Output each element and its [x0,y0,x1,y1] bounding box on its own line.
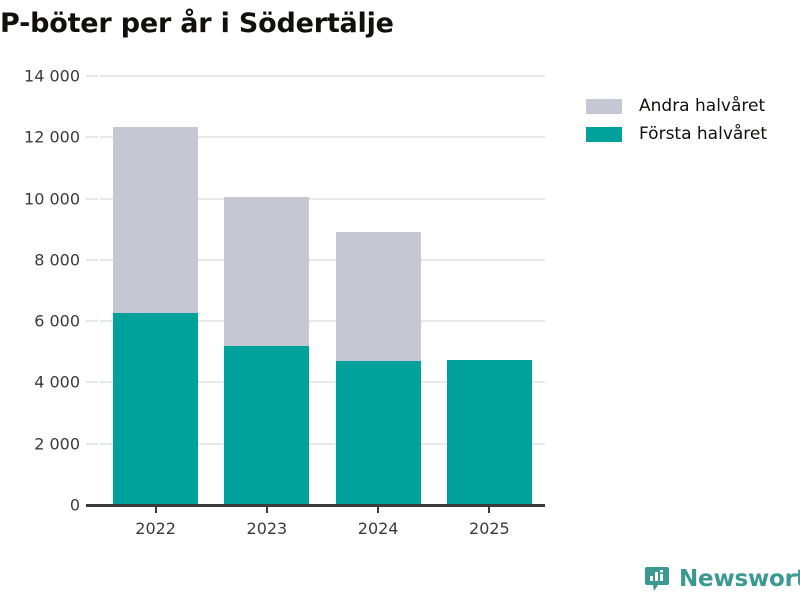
y-tick-label: 8 000 [34,250,80,269]
y-tick-dash [86,75,98,77]
bar-group-2024[interactable] [336,76,421,505]
x-tick-label-2022: 2022 [135,519,176,538]
x-tick-label-2024: 2024 [358,519,399,538]
y-tick-dash [86,381,98,383]
x-tick-label-2023: 2023 [247,519,288,538]
x-axis-line [86,504,545,507]
bar-segment-forsta-halvaret-2022[interactable] [113,313,198,505]
legend-label: Första halvåret [639,124,767,144]
bar-segment-andra-halvaret-2022[interactable] [113,127,198,313]
chart-legend: Andra halvåretFörsta halvåret [586,93,767,149]
bar-segment-forsta-halvaret-2025[interactable] [447,360,532,505]
x-tick-label-2025: 2025 [469,519,510,538]
y-tick-dash [86,198,98,200]
page-title: P-böter per år i Södertälje [0,8,790,39]
legend-item-1[interactable]: Andra halvåret [586,93,767,119]
y-tick-label: 10 000 [24,189,80,208]
bar-group-2025[interactable] [447,76,532,505]
newsworthy-wordmark: Newsworthy [679,566,800,592]
bar-segment-forsta-halvaret-2024[interactable] [336,361,421,505]
bar-segment-forsta-halvaret-2023[interactable] [224,346,309,505]
bar-segment-andra-halvaret-2023[interactable] [224,197,309,346]
y-tick-label: 14 000 [24,67,80,86]
y-tick-label: 0 [70,496,80,515]
legend-swatch [586,127,622,142]
bar-group-2022[interactable] [113,76,198,505]
chart-plot-area: 02 0004 0006 0008 00010 00012 00014 000 … [100,76,545,505]
legend-swatch [586,99,622,114]
y-tick-dash [86,443,98,445]
bar-segment-andra-halvaret-2024[interactable] [336,232,421,361]
y-tick-label: 6 000 [34,312,80,331]
bar-group-2023[interactable] [224,76,309,505]
newsworthy-bars-bubble-icon [644,566,670,592]
y-tick-label: 2 000 [34,434,80,453]
legend-item-2[interactable]: Första halvåret [586,121,767,147]
y-tick-dash [86,259,98,261]
y-tick-label: 4 000 [34,373,80,392]
y-tick-dash [86,320,98,322]
y-tick-dash [86,136,98,138]
legend-label: Andra halvåret [639,96,765,116]
y-tick-label: 12 000 [24,128,80,147]
newsworthy-logo: Newsworthy [644,566,800,592]
